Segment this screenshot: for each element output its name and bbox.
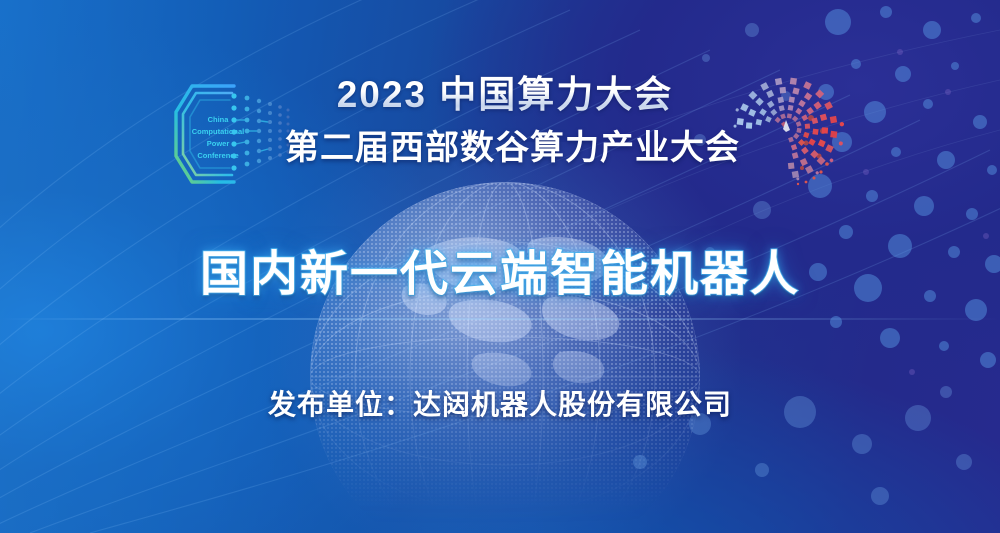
publisher-line: 发布单位：达闼机器人股份有限公司 — [0, 385, 1000, 425]
conference-poster: China Computational Power Conference — [0, 0, 1000, 533]
conference-header: 2023 中国算力大会 第二届西部数谷算力产业大会 — [285, 72, 725, 170]
logo-text-china: China — [208, 115, 230, 124]
conference-title-line2: 第二届西部数谷算力产业大会 — [285, 126, 725, 170]
page-title: 国内新一代云端智能机器人 — [0, 244, 1000, 306]
conference-title-line1: 2023 中国算力大会 — [285, 72, 725, 118]
logo-text-power: Power — [207, 139, 230, 148]
china-computational-power-conference-logo: China Computational Power Conference — [172, 78, 292, 190]
spiral-square-fan-icon — [726, 68, 848, 188]
